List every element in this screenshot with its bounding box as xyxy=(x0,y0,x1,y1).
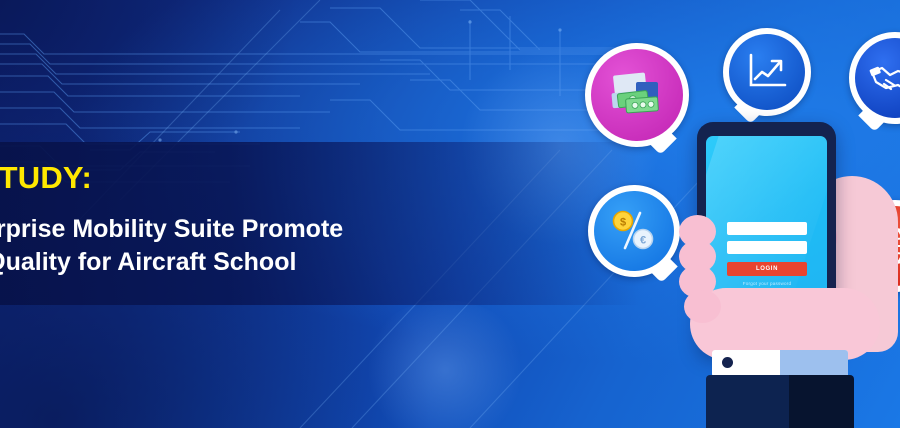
headline-line-2: Training Quality for Aircraft School xyxy=(0,246,442,279)
password-field[interactable] xyxy=(727,241,807,254)
bubble-handshake-inner xyxy=(855,38,900,118)
bubble-handshake[interactable] xyxy=(849,32,900,124)
headline-group: CASE STUDY: How Enterprise Mobility Suit… xyxy=(0,160,442,279)
cuff-button-icon xyxy=(722,357,733,368)
login-button[interactable]: LOGIN xyxy=(727,262,807,276)
shirt-cuff-shade xyxy=(780,350,848,377)
bubble-wallet[interactable] xyxy=(585,43,689,147)
bubble-currency-inner: $ € xyxy=(594,191,674,271)
bubble-wallet-inner xyxy=(591,49,683,141)
bubble-growth[interactable] xyxy=(723,28,811,116)
forgot-password-link[interactable]: Forgot your password xyxy=(727,281,807,286)
bubble-currency[interactable]: $ € xyxy=(588,185,680,277)
svg-text:$: $ xyxy=(620,217,626,229)
case-study-eyebrow: CASE STUDY: xyxy=(0,160,442,196)
svg-text:€: € xyxy=(640,235,646,247)
case-study-banner: CASE STUDY: How Enterprise Mobility Suit… xyxy=(0,0,900,428)
currency-exchange-icon: $ € xyxy=(609,208,659,254)
headline-line-1: How Enterprise Mobility Suite Promote xyxy=(0,213,442,246)
suit-sleeve xyxy=(706,375,854,428)
handshake-icon xyxy=(868,58,900,98)
growth-chart-icon xyxy=(744,51,790,93)
username-field[interactable] xyxy=(727,222,807,235)
background-glow xyxy=(360,300,530,428)
finger xyxy=(684,290,721,323)
bubble-growth-inner xyxy=(729,34,805,110)
wallet-money-icon xyxy=(608,70,666,120)
